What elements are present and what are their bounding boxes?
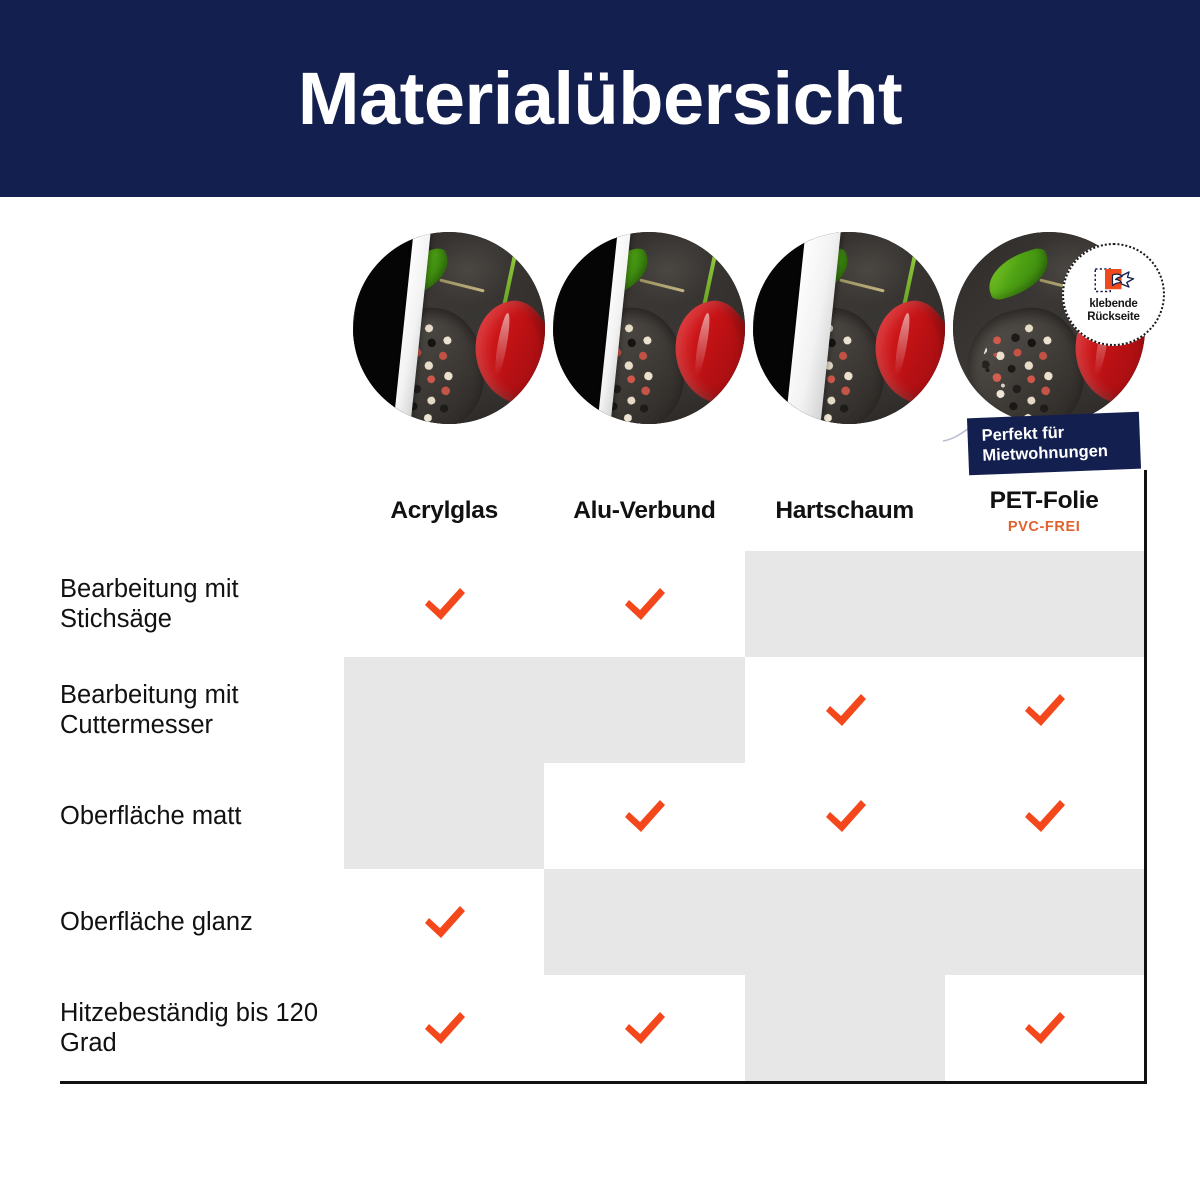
orange-check-icon [421,901,467,943]
column-header-acrylglas: Acrylglas [344,470,544,551]
cell-r4-c1 [544,975,744,1083]
table-row: Oberfläche matt [60,763,1145,869]
cell-r2-c1 [544,763,744,869]
chili-stalk-shape [700,255,717,320]
cell-r2-c0 [344,763,544,869]
badge-text: klebende Rückseite [1087,298,1140,324]
column-header-label: Hartschaum [775,497,914,524]
cell-r3-c2 [745,869,945,975]
cell-r1-c3 [945,657,1145,763]
orange-check-icon [621,795,667,837]
column-header-alu-verbund: Alu-Verbund [544,470,744,551]
orange-check-icon [621,1007,667,1049]
cell-r1-c1 [544,657,744,763]
peppercorn-mix-shape [968,310,1088,424]
cell-r1-c0 [344,657,544,763]
cell-r3-c3 [945,869,1145,975]
cell-r3-c1 [544,869,744,975]
leaf-stem-shape [640,278,685,292]
column-header-hartschaum: Hartschaum [745,470,945,551]
ribbon-banner: Perfekt für Mietwohnungen [967,412,1141,476]
row-label-stichsaege: Bearbeitung mit Stichsäge [60,551,344,657]
adhesive-backing-badge: klebende Rückseite [1062,243,1165,346]
peel-sticker-icon [1093,266,1135,296]
orange-check-icon [1021,795,1067,837]
orange-check-icon [421,1007,467,1049]
cell-r1-c2 [745,657,945,763]
product-image-acrylglas[interactable] [344,232,544,424]
chili-stalk-shape [500,255,517,320]
product-photo-circle [753,232,945,424]
column-header-label: PET-Folie [990,487,1099,514]
cell-r0-c3 [945,551,1145,657]
cell-r0-c0 [344,551,544,657]
chili-pepper-shape [869,296,945,409]
cell-r3-c0 [344,869,544,975]
cell-r2-c3 [945,763,1145,869]
orange-check-icon [822,689,868,731]
table-row: Hitzebeständig bis 120 Grad [60,975,1145,1083]
leaf-stem-shape [840,278,885,292]
material-comparison-table-wrapper: Acrylglas Alu-Verbund Hartschaum PET-Fol… [60,470,1145,1082]
cell-r4-c3 [945,975,1145,1083]
product-image-alu-verbund[interactable] [544,232,744,424]
leaf-stem-shape [440,278,485,292]
header-corner-blank [60,470,344,551]
chili-stalk-shape [900,255,917,320]
product-photo-circle [353,232,545,424]
column-header-label: Acrylglas [390,497,498,524]
table-row: Oberfläche glanz [60,869,1145,975]
row-label-oberflaeche-glanz: Oberfläche glanz [60,869,344,975]
material-comparison-table: Acrylglas Alu-Verbund Hartschaum PET-Fol… [60,470,1147,1084]
ribbon-line-2: Mietwohnungen [982,442,1108,465]
orange-check-icon [621,583,667,625]
leaf-shape [981,246,1055,303]
column-header-label: Alu-Verbund [573,497,715,524]
table-row: Bearbeitung mit Cuttermesser [60,657,1145,763]
badge-line-2: Rückseite [1087,311,1140,323]
orange-check-icon [1021,689,1067,731]
ribbon-line-1: Perfekt für [981,424,1064,445]
orange-check-icon [822,795,868,837]
chili-pepper-shape [469,296,545,409]
orange-check-icon [1021,1007,1067,1049]
row-label-cuttermesser: Bearbeitung mit Cuttermesser [60,657,344,763]
column-header-sublabel-pvc-frei: PVC-FREI [945,519,1144,535]
cell-r0-c2 [745,551,945,657]
badge-line-1: klebende [1089,298,1137,310]
cell-r4-c0 [344,975,544,1083]
page-header: Materialübersicht [0,0,1200,197]
column-header-pet-folie: PET-Folie PVC-FREI [945,470,1145,551]
cell-r0-c1 [544,551,744,657]
orange-check-icon [421,583,467,625]
table-row: Bearbeitung mit Stichsäge [60,551,1145,657]
page-title: Materialübersicht [298,62,902,136]
cell-r4-c2 [745,975,945,1083]
row-label-hitzebestaendig: Hitzebeständig bis 120 Grad [60,975,344,1083]
row-label-oberflaeche-matt: Oberfläche matt [60,763,344,869]
cell-r2-c2 [745,763,945,869]
product-image-hartschaum[interactable] [744,232,944,424]
product-photo-circle [553,232,745,424]
product-image-strip [344,232,1144,424]
table-header-row: Acrylglas Alu-Verbund Hartschaum PET-Fol… [60,470,1145,551]
chili-pepper-shape [669,296,745,409]
